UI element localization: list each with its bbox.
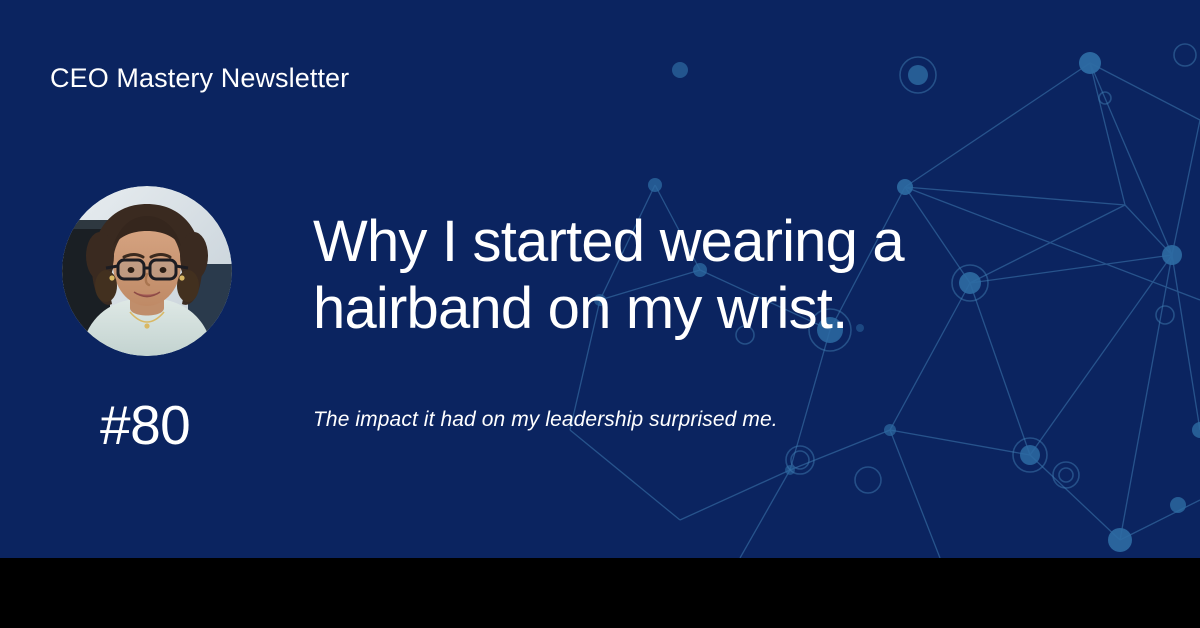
newsletter-cover-card: CEO Mastery Newsletter [0,0,1200,628]
issue-number: #80 [100,398,190,453]
footer-bar: surabhishenoy.com [0,558,1200,628]
author-avatar [62,186,232,356]
article-headline: Why I started wearing a hairband on my w… [313,208,973,343]
article-subtitle: The impact it had on my leadership surpr… [313,406,933,433]
newsletter-brand-title: CEO Mastery Newsletter [50,62,349,94]
avatar-portrait-image [62,186,232,356]
